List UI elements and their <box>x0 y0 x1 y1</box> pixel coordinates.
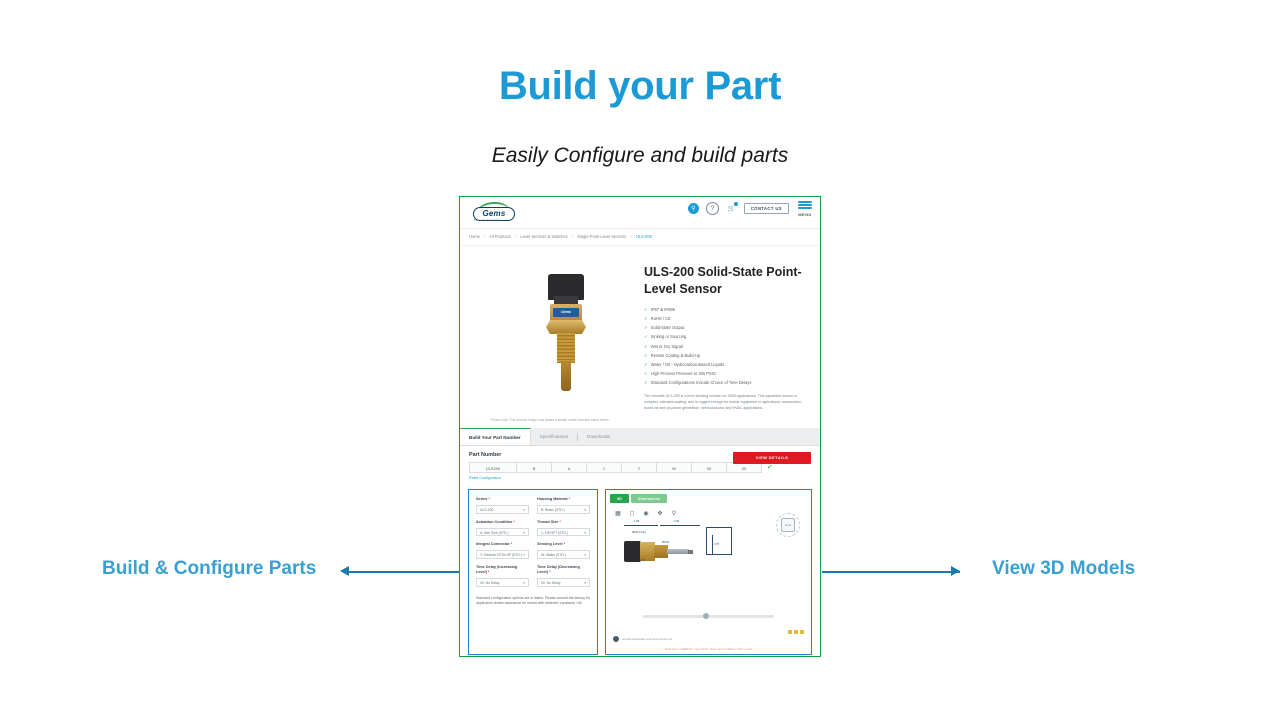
callout-view-3d: View 3D Models <box>992 558 1135 580</box>
dimension-line <box>660 525 700 526</box>
chevron-down-icon: ▾ <box>523 551 525 559</box>
field-label: Time Delay (Decreasing Level) <box>537 565 580 575</box>
feature-item: ✓Water / Oil - Hydrocarbon-Based Liquids <box>644 362 808 368</box>
builder-panels: Series * ULS-200▾ Housing Material * B: … <box>460 489 820 655</box>
measure-icon[interactable]: ◻ <box>628 509 636 517</box>
feature-item: ✓Solid-State Output <box>644 325 808 331</box>
feature-item: ✓Standard Configurations Include Choice … <box>644 380 808 386</box>
product-image-note: Please note: The product image may depic… <box>460 418 640 422</box>
part-number-segment-delay-inc[interactable]: 00 <box>691 462 727 473</box>
check-icon: ✓ <box>644 362 648 368</box>
select-integral-connector[interactable]: Y: Deutsch DT04-3P (STD.)▾ <box>476 550 529 559</box>
chevron-down-icon: ▾ <box>523 529 525 537</box>
feature-item: ✓High Process Pressure to 300 PSIG <box>644 371 808 377</box>
part-number-section: Part Number ULS200 B A 1 Y W 00 00 ✓ Res… <box>460 446 820 489</box>
arrow-left-line <box>344 571 460 573</box>
viewer-file-name: uls-200-solid-state-point-level-sensor.s… <box>622 637 672 641</box>
viewer-legal: Powered by CADENAS | Legal Notice | Term… <box>606 648 811 651</box>
feature-item: ✓Resists Coating & Build-Up <box>644 353 808 359</box>
nav-cube-icon[interactable]: Front <box>776 513 800 537</box>
select-housing-material[interactable]: B: Brass (STD.)▾ <box>537 505 590 514</box>
viewer-tab-3d[interactable]: 3D <box>610 494 629 503</box>
avatar <box>613 636 619 642</box>
field-housing-material: Housing Material * B: Brass (STD.)▾ <box>537 497 590 514</box>
product-tabs: Build Your Part Number Specifications Do… <box>460 428 820 446</box>
part-number-segment-thread[interactable]: 1 <box>586 462 622 473</box>
select-actuation-condition[interactable]: A: Wet Sink (STD.)▾ <box>476 528 529 537</box>
part-number-segment-actuation[interactable]: A <box>551 462 587 473</box>
product-hero: Gems Please note: The product image may … <box>460 246 820 428</box>
help-icon[interactable]: ? <box>706 202 719 215</box>
rotate-icon[interactable]: ◉ <box>642 509 650 517</box>
menu-button[interactable]: MENU <box>798 201 812 217</box>
field-label: Integral Connector <box>476 542 510 546</box>
breadcrumb-item-all-products[interactable]: All Products <box>489 234 511 239</box>
search-icon[interactable]: ⚲ <box>688 203 699 214</box>
tab-build-your-part-number[interactable]: Build Your Part Number <box>460 428 531 445</box>
viewer-canvas[interactable]: Front 1.38 2.40 Ø0.56 0.75 <box>610 519 807 593</box>
gems-logo[interactable]: Gems Sensors & Controls <box>469 202 519 223</box>
feature-item: ✓Sinking or Sourcing <box>644 334 808 340</box>
field-actuation-condition: Actuation Condition * A: Wet Sink (STD.)… <box>476 520 529 537</box>
check-icon: ✓ <box>644 380 648 386</box>
select-series[interactable]: ULS-200▾ <box>476 505 529 514</box>
menu-label: MENU <box>798 212 811 217</box>
check-icon: ✓ <box>644 344 648 350</box>
header-icon-group: ⚲ ? 🛒 CONTACT US MENU <box>688 201 812 217</box>
breadcrumb-item-single-point[interactable]: Single-Point Level Sensors <box>577 234 626 239</box>
contact-us-button[interactable]: CONTACT US <box>744 203 789 214</box>
viewer-footer: uls-200-solid-state-point-level-sensor.s… <box>606 636 811 642</box>
pan-icon[interactable]: ✥ <box>656 509 664 517</box>
feature-item: ✓RoHS / CE <box>644 316 808 322</box>
configurator-note: Standard configuration options are in it… <box>476 596 590 608</box>
breadcrumb-item-home[interactable]: Home <box>469 234 480 239</box>
embedded-screenshot: Gems Sensors & Controls ⚲ ? 🛒 CONTACT US… <box>459 196 821 657</box>
field-label: Series <box>476 497 487 501</box>
select-time-delay-increasing[interactable]: 00: No Delay▾ <box>476 578 529 587</box>
feature-list: ✓IP67 & IP69K ✓RoHS / CE ✓Solid-State Ou… <box>644 307 808 387</box>
field-label: Actuation Condition <box>476 520 512 524</box>
feature-item: ✓IP67 & IP69K <box>644 307 808 313</box>
check-icon: ✓ <box>644 334 648 340</box>
field-label: Sensing Level <box>537 542 563 546</box>
view-details-button[interactable]: VIEW DETAILS <box>733 452 811 464</box>
reset-configuration-link[interactable]: Reset Configuration <box>469 476 811 480</box>
breadcrumb: Home / All Products / Level Sensors & Sw… <box>460 229 820 246</box>
viewer-tab-dimensions[interactable]: Dimensions <box>631 494 667 503</box>
dimension-label: 2.40 <box>674 520 679 523</box>
arrow-right-head <box>951 566 960 576</box>
slide-root: Build your Part Easily Configure and bui… <box>0 0 1280 720</box>
product-description: The versatile ULS-200 is a level sensing… <box>644 394 808 411</box>
part-number-segment-housing[interactable]: B <box>516 462 552 473</box>
callout-build-configure: Build & Configure Parts <box>102 558 316 580</box>
breadcrumb-item-level-sensors[interactable]: Level Sensors & Switches <box>520 234 567 239</box>
arrow-right-line <box>822 571 960 573</box>
field-label: Time Delay (Increasing Level) <box>476 565 517 575</box>
cad-detail-box <box>706 527 732 555</box>
dimension-label: 1.38 <box>634 520 639 523</box>
chevron-down-icon: ▾ <box>584 579 586 587</box>
check-icon: ✓ <box>644 371 648 377</box>
hamburger-icon <box>798 201 812 211</box>
product-info: ULS-200 Solid-State Point-Level Sensor ✓… <box>640 246 820 428</box>
select-sensing-level[interactable]: W: Water (STD.)▾ <box>537 550 590 559</box>
part-number-segment-sensing[interactable]: W <box>656 462 692 473</box>
model-viewer-panel: 3D Dimensions ▦ ◻ ◉ ✥ ⚲ Front <box>605 489 812 655</box>
chevron-down-icon: ▾ <box>584 551 586 559</box>
dimension-label: 1.06 <box>640 559 645 562</box>
check-icon: ✓ <box>644 307 648 313</box>
breadcrumb-item-current: ULS-200 <box>636 234 652 239</box>
site-header: Gems Sensors & Controls ⚲ ? 🛒 CONTACT US… <box>460 197 820 229</box>
logo-tagline: Sensors & Controls <box>474 219 502 222</box>
cad-model <box>624 533 710 573</box>
field-time-delay-increasing: Time Delay (Increasing Level) * 00: No D… <box>476 565 529 587</box>
select-time-delay-decreasing[interactable]: 00: No Delay▾ <box>537 578 590 587</box>
configurator-fields: Series * ULS-200▾ Housing Material * B: … <box>476 497 590 593</box>
check-icon: ✓ <box>644 325 648 331</box>
cart-icon[interactable]: 🛒 <box>726 203 737 214</box>
field-integral-connector: Integral Connector * Y: Deutsch DT04-3P … <box>476 542 529 559</box>
slider-knob[interactable] <box>703 613 709 619</box>
check-icon: ✓ <box>644 353 648 359</box>
arrow-left-head <box>340 566 349 576</box>
chevron-down-icon: ▾ <box>584 506 586 514</box>
grid-icon[interactable]: ▦ <box>614 509 622 517</box>
product-title: ULS-200 Solid-State Point-Level Sensor <box>644 264 808 298</box>
part-number-segment-connector[interactable]: Y <box>621 462 657 473</box>
chevron-down-icon: ▾ <box>584 529 586 537</box>
viewer-dot-grid <box>788 630 804 634</box>
viewer-tabs: 3D Dimensions <box>606 490 811 503</box>
page-title: Build your Part <box>0 64 1280 109</box>
tab-specifications[interactable]: Specifications <box>531 428 577 445</box>
tab-downloads[interactable]: Downloads <box>578 428 619 445</box>
dimension-line <box>624 525 658 526</box>
chevron-down-icon: ▾ <box>523 579 525 587</box>
nav-cube-label: Front <box>781 518 795 532</box>
dimension-label: M18x1.5-6g <box>632 531 646 534</box>
page-subtitle: Easily Configure and build parts <box>0 144 1280 168</box>
select-thread-size[interactable]: 1: 1/8 NPT (STD.)▾ <box>537 528 590 537</box>
field-label: Thread Size <box>537 520 558 524</box>
viewer-slider[interactable] <box>643 615 774 618</box>
product-image-area: Gems Please note: The product image may … <box>460 246 640 428</box>
chevron-down-icon: ▾ <box>523 506 525 514</box>
zoom-icon[interactable]: ⚲ <box>670 509 678 517</box>
feature-item: ✓Wet or Dry Signal <box>644 344 808 350</box>
field-series: Series * ULS-200▾ <box>476 497 529 514</box>
product-image-brand: Gems <box>553 308 579 317</box>
field-thread-size: Thread Size * 1: 1/8 NPT (STD.)▾ <box>537 520 590 537</box>
part-number-segment-series[interactable]: ULS200 <box>469 462 517 473</box>
check-icon: ✓ <box>644 316 648 322</box>
field-label: Housing Material <box>537 497 568 501</box>
product-image: Gems <box>544 274 588 404</box>
dimension-label: Ø0.56 <box>662 541 669 544</box>
configurator-panel: Series * ULS-200▾ Housing Material * B: … <box>468 489 598 655</box>
field-sensing-level: Sensing Level * W: Water (STD.)▾ <box>537 542 590 559</box>
field-time-delay-decreasing: Time Delay (Decreasing Level) * 00: No D… <box>537 565 590 587</box>
